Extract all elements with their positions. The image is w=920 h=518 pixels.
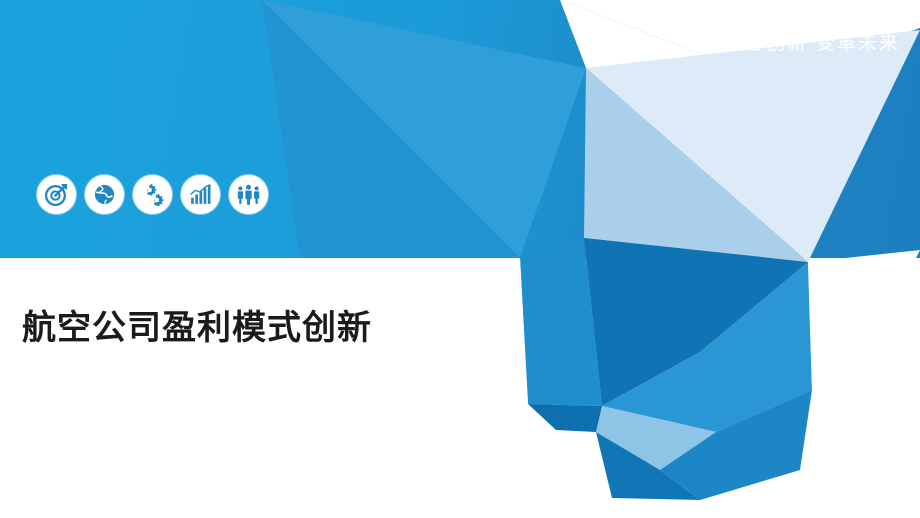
target-arrow-icon xyxy=(37,175,76,214)
slide-root: 数智创新 变革未来 xyxy=(0,0,920,518)
icon-row xyxy=(37,175,268,214)
page-title: 航空公司盈利模式创新 xyxy=(22,300,372,349)
globe-icon xyxy=(85,175,124,214)
gears-icon xyxy=(133,175,172,214)
slide-tagline: 数智创新 变革未来 xyxy=(724,28,900,55)
bar-chart-icon xyxy=(181,175,220,214)
people-group-icon xyxy=(229,175,268,214)
polygon-plane-graphic xyxy=(0,0,920,518)
